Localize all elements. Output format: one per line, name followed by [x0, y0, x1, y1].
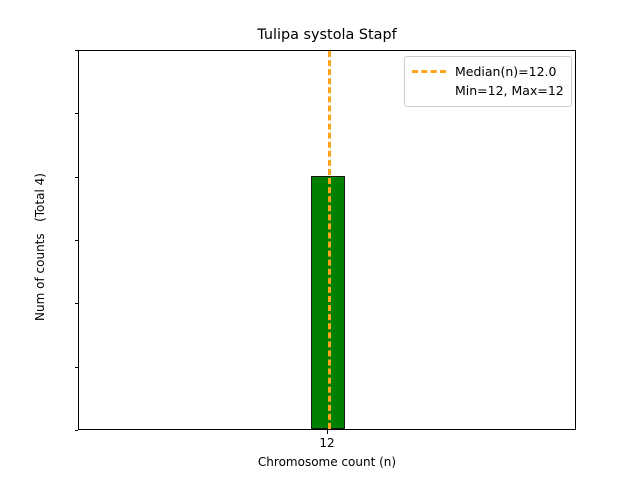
legend-line-icon: [412, 70, 446, 73]
legend-item: Min=12, Max=12: [412, 81, 564, 100]
chart-figure: Tulipa systola Stapf 0123456 Num of coun…: [0, 0, 640, 480]
median-line: [328, 51, 331, 429]
legend-label: Median(n)=12.0: [455, 64, 556, 79]
y-axis-label: Num of counts (Total 4): [33, 57, 47, 437]
plot-area: [78, 50, 576, 430]
y-tick-mark: [75, 430, 79, 431]
x-tick-label: 12: [319, 436, 334, 450]
legend-item: Median(n)=12.0: [412, 62, 564, 81]
x-tick-mark: [327, 430, 328, 434]
legend: Median(n)=12.0Min=12, Max=12: [404, 56, 572, 107]
chart-title: Tulipa systola Stapf: [78, 27, 576, 43]
x-axis-label: Chromosome count (n): [78, 455, 576, 469]
legend-label: Min=12, Max=12: [455, 83, 564, 98]
